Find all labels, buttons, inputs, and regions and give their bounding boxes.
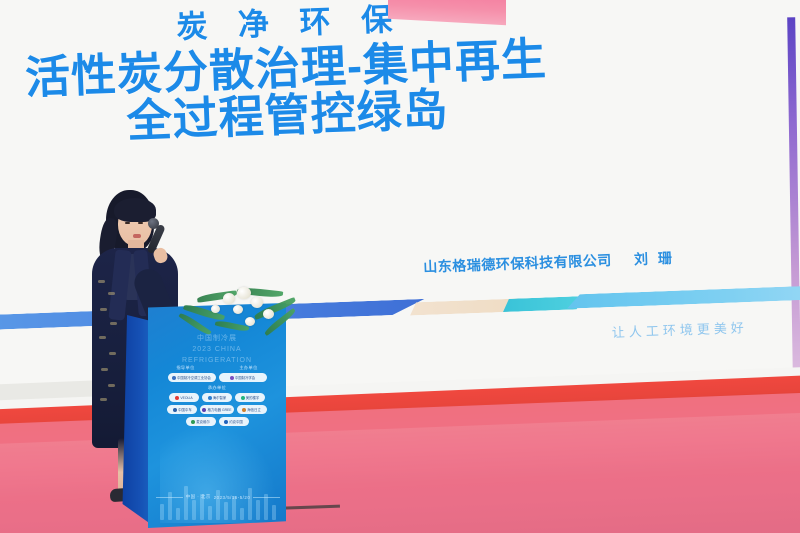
- sponsor-mark-icon: [208, 396, 212, 400]
- sponsor-head-labels: 指导单位 主办单位: [154, 365, 280, 371]
- sponsor-name: 中国制冷学会: [235, 375, 255, 380]
- sponsor-name: 中国制冷空调工业协会: [177, 375, 211, 380]
- presenter-credit: 山东格瑞德环保科技有限公司 刘 珊: [423, 248, 675, 277]
- speaker-mouth: [133, 234, 141, 238]
- flower-arrangement: [175, 279, 305, 349]
- slide-title-block: 炭 净 环 保 活性炭分散治理-集中再生 全过程管控绿岛: [0, 0, 608, 151]
- sponsor-logo: 中国制冷学会: [219, 373, 267, 382]
- podium: 中国制冷展 2023 CHINA REFRIGERATION 指导单位 主办单位…: [120, 303, 286, 528]
- screenshot-root: 会 炭 净 环 保 活性炭分散治理-集中再生 全过程管控绿岛 山东格瑞德环保科技…: [0, 0, 800, 533]
- podium-footer-rule-right: [253, 497, 280, 498]
- band-segment-cream: [410, 298, 520, 315]
- speaker-eye-right: [138, 222, 143, 224]
- flower-bloom: [223, 293, 235, 304]
- podium-footer-rule-left: [156, 497, 183, 498]
- sponsor-mark-icon: [191, 420, 195, 424]
- sponsor-name: 美的楼宇: [246, 395, 260, 400]
- microphone-head-icon: [148, 218, 159, 229]
- sponsor-mark-icon: [224, 420, 228, 424]
- speaker-jacket-embroidery: [96, 274, 122, 414]
- podium-footer: 中国 · 北京 2023/5/16-5/20: [156, 494, 280, 500]
- sponsor-mark-icon: [173, 408, 177, 412]
- sponsor-name: 格力电器 GREE: [207, 407, 231, 412]
- sponsor-name: 约克中国: [229, 419, 243, 424]
- sponsor-row-2: VEOLIA 海尔智家 美的楼宇: [154, 393, 280, 402]
- sponsor-row-1: 中国制冷空调工业协会 中国制冷学会: [154, 373, 280, 382]
- sponsor-mark-icon: [175, 396, 179, 400]
- band-segment-teal: [503, 296, 583, 312]
- sponsor-name: VEOLIA: [180, 396, 192, 400]
- sponsor-row-3: 中国中车 格力电器 GREE 海信日立: [154, 405, 280, 414]
- sponsor-name: 海尔智家: [213, 395, 227, 400]
- sponsor-mark-icon: [230, 376, 234, 380]
- sponsor-mark-icon: [202, 408, 206, 412]
- band-segment-lightblue: [566, 285, 800, 309]
- sponsor-logo: 海信日立: [237, 405, 267, 414]
- sponsor-label-guidance: 指导单位: [176, 365, 194, 371]
- flower-bloom: [237, 287, 251, 299]
- flower-bloom: [233, 305, 243, 314]
- podium-footer-dates: 2023/5/16-5/20: [214, 495, 251, 500]
- sponsor-logo: 美的楼宇: [235, 393, 265, 402]
- podium-footer-location: 中国 · 北京: [186, 494, 211, 500]
- podium-side-panel: [120, 315, 152, 525]
- sponsor-logo: 麦克维尔: [186, 417, 216, 426]
- presenter-company: 山东格瑞德环保科技有限公司: [423, 252, 612, 275]
- podium-sponsor-area: 指导单位 主办单位 中国制冷空调工业协会 中国制冷学会 承办单位 VEOLIA: [154, 365, 280, 429]
- sponsor-logo: 约克中国: [219, 417, 249, 426]
- sponsor-logo: 中国中车: [167, 405, 197, 414]
- presenter-name: 刘 珊: [634, 250, 675, 267]
- sponsor-label-organizer: 承办单位: [154, 385, 280, 391]
- speaker-eye-left: [125, 222, 130, 224]
- flower-bloom: [251, 297, 263, 308]
- sponsor-logo: 中国制冷空调工业协会: [168, 373, 216, 382]
- sponsor-name: 海信日立: [247, 407, 261, 412]
- sponsor-mark-icon: [242, 408, 246, 412]
- sponsor-name: 中国中车: [178, 407, 192, 412]
- sponsor-row-4: 麦克维尔 约克中国: [154, 417, 280, 426]
- sponsor-logo: 海尔智家: [202, 393, 232, 402]
- sponsor-logo: VEOLIA: [169, 393, 199, 402]
- slide-tagline: 让人工环境更美好: [611, 317, 748, 341]
- sponsor-label-host: 主办单位: [239, 365, 257, 371]
- sponsor-mark-icon: [172, 376, 176, 380]
- flower-bloom: [263, 309, 274, 319]
- sponsor-logo: 格力电器 GREE: [200, 405, 233, 414]
- flower-bloom: [245, 317, 255, 326]
- flower-bloom: [211, 305, 220, 313]
- sponsor-name: 麦克维尔: [196, 419, 210, 424]
- sponsor-mark-icon: [241, 396, 245, 400]
